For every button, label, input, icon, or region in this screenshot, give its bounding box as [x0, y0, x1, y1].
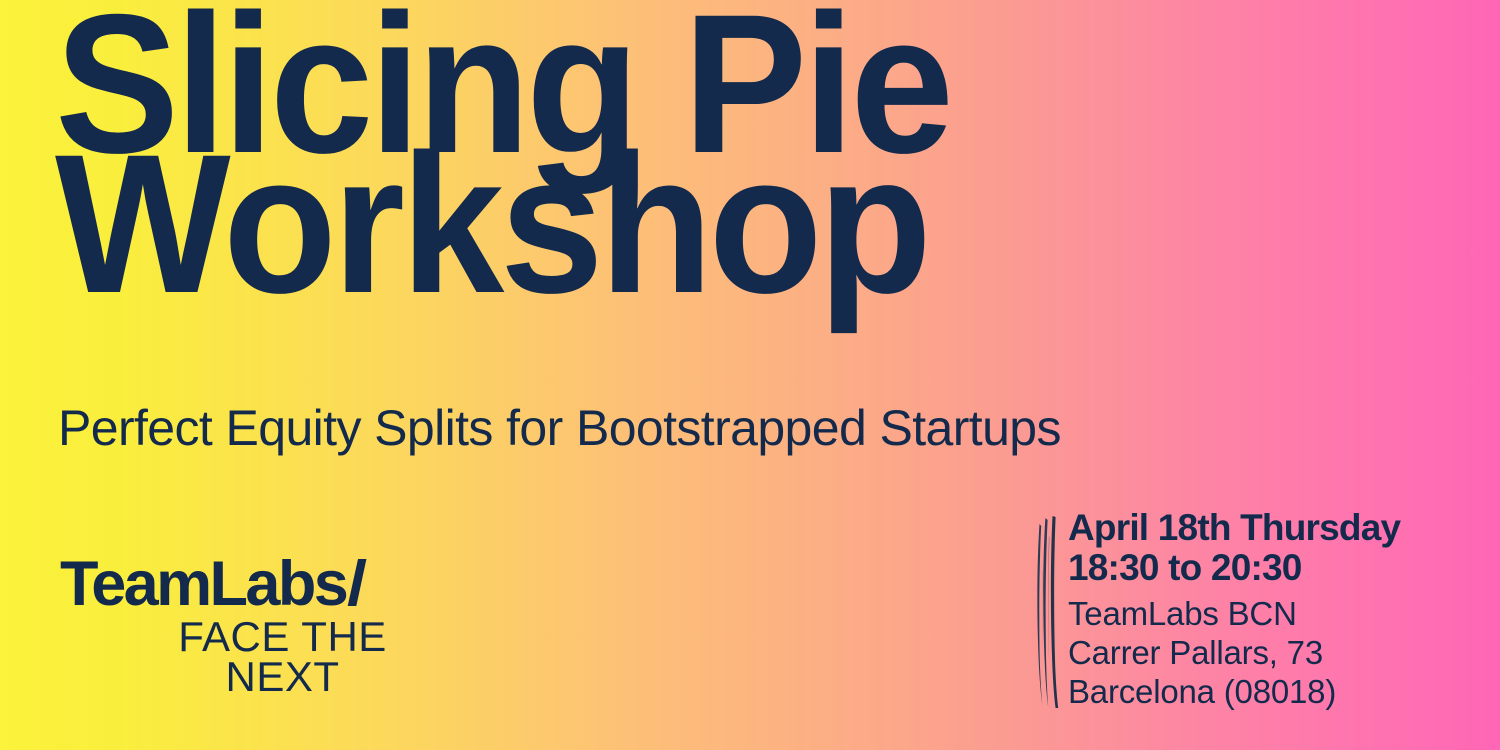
logo-slash-icon: /: [347, 552, 364, 616]
brush-stroke-mark-icon: [1032, 514, 1062, 710]
event-date: April 18th Thursday: [1068, 508, 1400, 548]
event-street: Carrer Pallars, 73: [1068, 633, 1400, 672]
logo-wordmark: TeamLabs/: [60, 552, 520, 616]
logo-wordmark-text: TeamLabs: [60, 549, 346, 619]
event-text-group: April 18th Thursday 18:30 to 20:30 TeamL…: [1068, 508, 1400, 711]
logo-tagline: FACE THE NEXT: [60, 617, 505, 697]
poster-title: Slicing Pie Workshop: [55, 14, 1155, 294]
event-venue: TeamLabs BCN: [1068, 594, 1400, 633]
title-line-2: Workshop: [55, 154, 1089, 294]
event-poster: Slicing Pie Workshop Perfect Equity Spli…: [0, 0, 1500, 750]
event-city: Barcelona (08018): [1068, 672, 1400, 711]
event-time: 18:30 to 20:30: [1068, 548, 1400, 588]
teamlabs-logo: TeamLabs/ FACE THE NEXT: [60, 552, 520, 697]
event-details: April 18th Thursday 18:30 to 20:30 TeamL…: [1032, 508, 1400, 711]
event-where: TeamLabs BCN Carrer Pallars, 73 Barcelon…: [1068, 594, 1400, 711]
poster-subtitle: Perfect Equity Splits for Bootstrapped S…: [58, 400, 1061, 456]
logo-tagline-line-1: FACE THE: [60, 617, 505, 657]
event-when: April 18th Thursday 18:30 to 20:30: [1068, 508, 1400, 588]
logo-tagline-line-2: NEXT: [60, 657, 505, 697]
